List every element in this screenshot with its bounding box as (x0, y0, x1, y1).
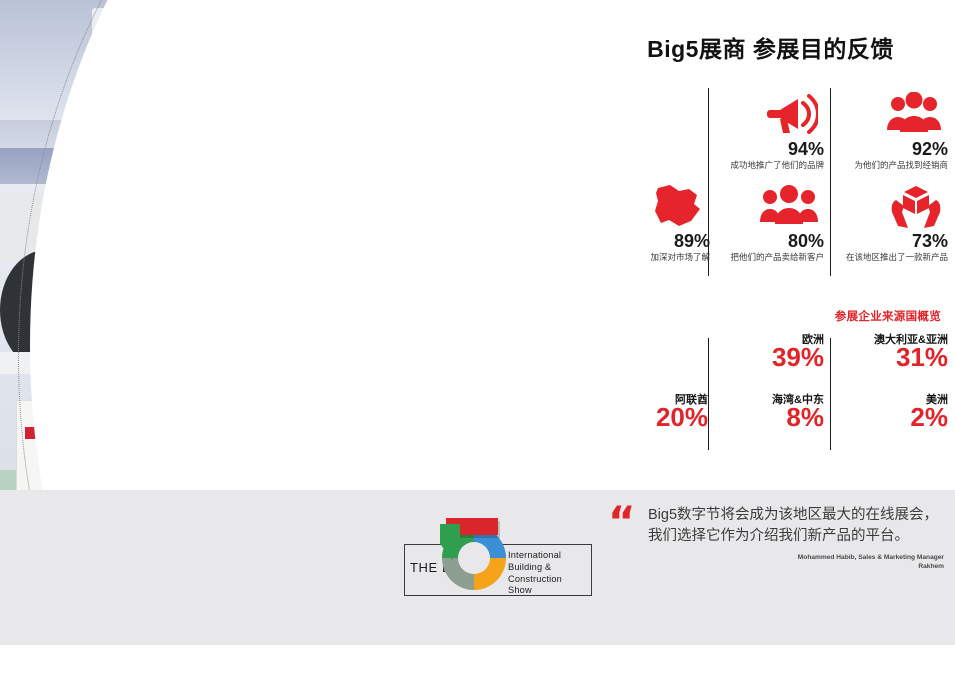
stat-value: 94% (706, 140, 824, 159)
ceiling-sign (238, 0, 260, 30)
stat-value: 92% (836, 140, 948, 159)
stat-label: 为他们的产品找到经销商 (836, 160, 948, 170)
country-pct: 39% (708, 344, 824, 371)
quote-attribution: Mohammed Habib, Sales & Marketing Manage… (648, 554, 944, 572)
country-uae: 阿联酋 20% (598, 394, 708, 431)
testimonial: “ Big5数字节将会成为该地区最大的在线展会，我们选择它作为介绍我们新产品的平… (608, 505, 944, 572)
machine-housing (0, 192, 150, 262)
stat-94: 94% 成功地推广了他们的品牌 (706, 92, 824, 170)
megaphone-icon (706, 92, 818, 138)
quote-company: Rakhem (648, 563, 944, 572)
ceiling-light (92, 8, 118, 70)
stat-label: 在该地区推出了一款新产品 (836, 252, 948, 262)
yellow-tool (194, 200, 218, 281)
countries-grid: 欧洲 39% 澳大利亚&亚洲 31% 阿联酋 20% 海湾&中东 8% 美洲 2… (608, 332, 948, 454)
logo-five-mark-icon (424, 512, 510, 598)
threaded-rod (288, 0, 301, 400)
ceiling-light-2 (222, 36, 266, 102)
map-region-icon (604, 184, 704, 230)
countries-divider-2 (830, 338, 831, 450)
logo-tagline: InternationalBuilding &ConstructionShow (508, 550, 562, 597)
three-people-icon (706, 184, 818, 230)
logo-pie-hole (458, 542, 490, 574)
stat-80: 80% 把他们的产品卖给新客户 (706, 184, 824, 262)
country-australia-asia: 澳大利亚&亚洲 31% (834, 334, 948, 371)
country-pct: 8% (708, 404, 824, 431)
countries-heading: 参展企业来源国概览 (835, 308, 941, 324)
stat-value: 80% (706, 232, 824, 251)
big5-logo: THE BIG InternationalBuilding &Construct… (404, 536, 590, 598)
quote-text: Big5数字节将会成为该地区最大的在线展会，我们选择它作为介绍我们新产品的平台。 (648, 505, 944, 546)
stat-92: 92% 为他们的产品找到经销商 (836, 92, 948, 170)
country-europe: 欧洲 39% (708, 334, 824, 371)
ceiling-accent (120, 4, 130, 44)
stat-89: 89% 加深对市场了解 (604, 184, 710, 262)
stats-grid: 94% 成功地推广了他们的品牌 92% 为他们的产品找到经销商 (608, 84, 948, 280)
country-pct: 20% (598, 404, 708, 431)
country-gulf-middle-east: 海湾&中东 8% (708, 394, 824, 431)
country-pct: 2% (834, 404, 948, 431)
person-a-badge (159, 302, 173, 322)
stat-73: 73% 在该地区推出了一款新产品 (836, 184, 948, 262)
people-group-icon (836, 92, 942, 138)
country-pct: 31% (834, 344, 948, 371)
stat-label: 成功地推广了他们的品牌 (706, 160, 824, 170)
stat-label: 把他们的产品卖给新客户 (706, 252, 824, 262)
hands-holding-box-icon (836, 184, 942, 230)
stats-divider-2 (830, 88, 831, 276)
stat-value: 73% (836, 232, 948, 251)
person-d-ear (378, 150, 398, 176)
shelf (0, 352, 158, 374)
poster-page: PRO Big5展商 参展目的反馈 (0, 0, 955, 677)
quote-author: Mohammed Habib, Sales & Marketing Manage… (798, 554, 944, 561)
bottom-white-strip (0, 645, 955, 677)
stat-label: 加深对市场了解 (604, 252, 710, 262)
stat-value: 89% (604, 232, 710, 251)
page-title: Big5展商 参展目的反馈 (600, 30, 941, 64)
quote-mark-icon: “ (608, 509, 634, 535)
country-americas: 美洲 2% (834, 394, 948, 431)
